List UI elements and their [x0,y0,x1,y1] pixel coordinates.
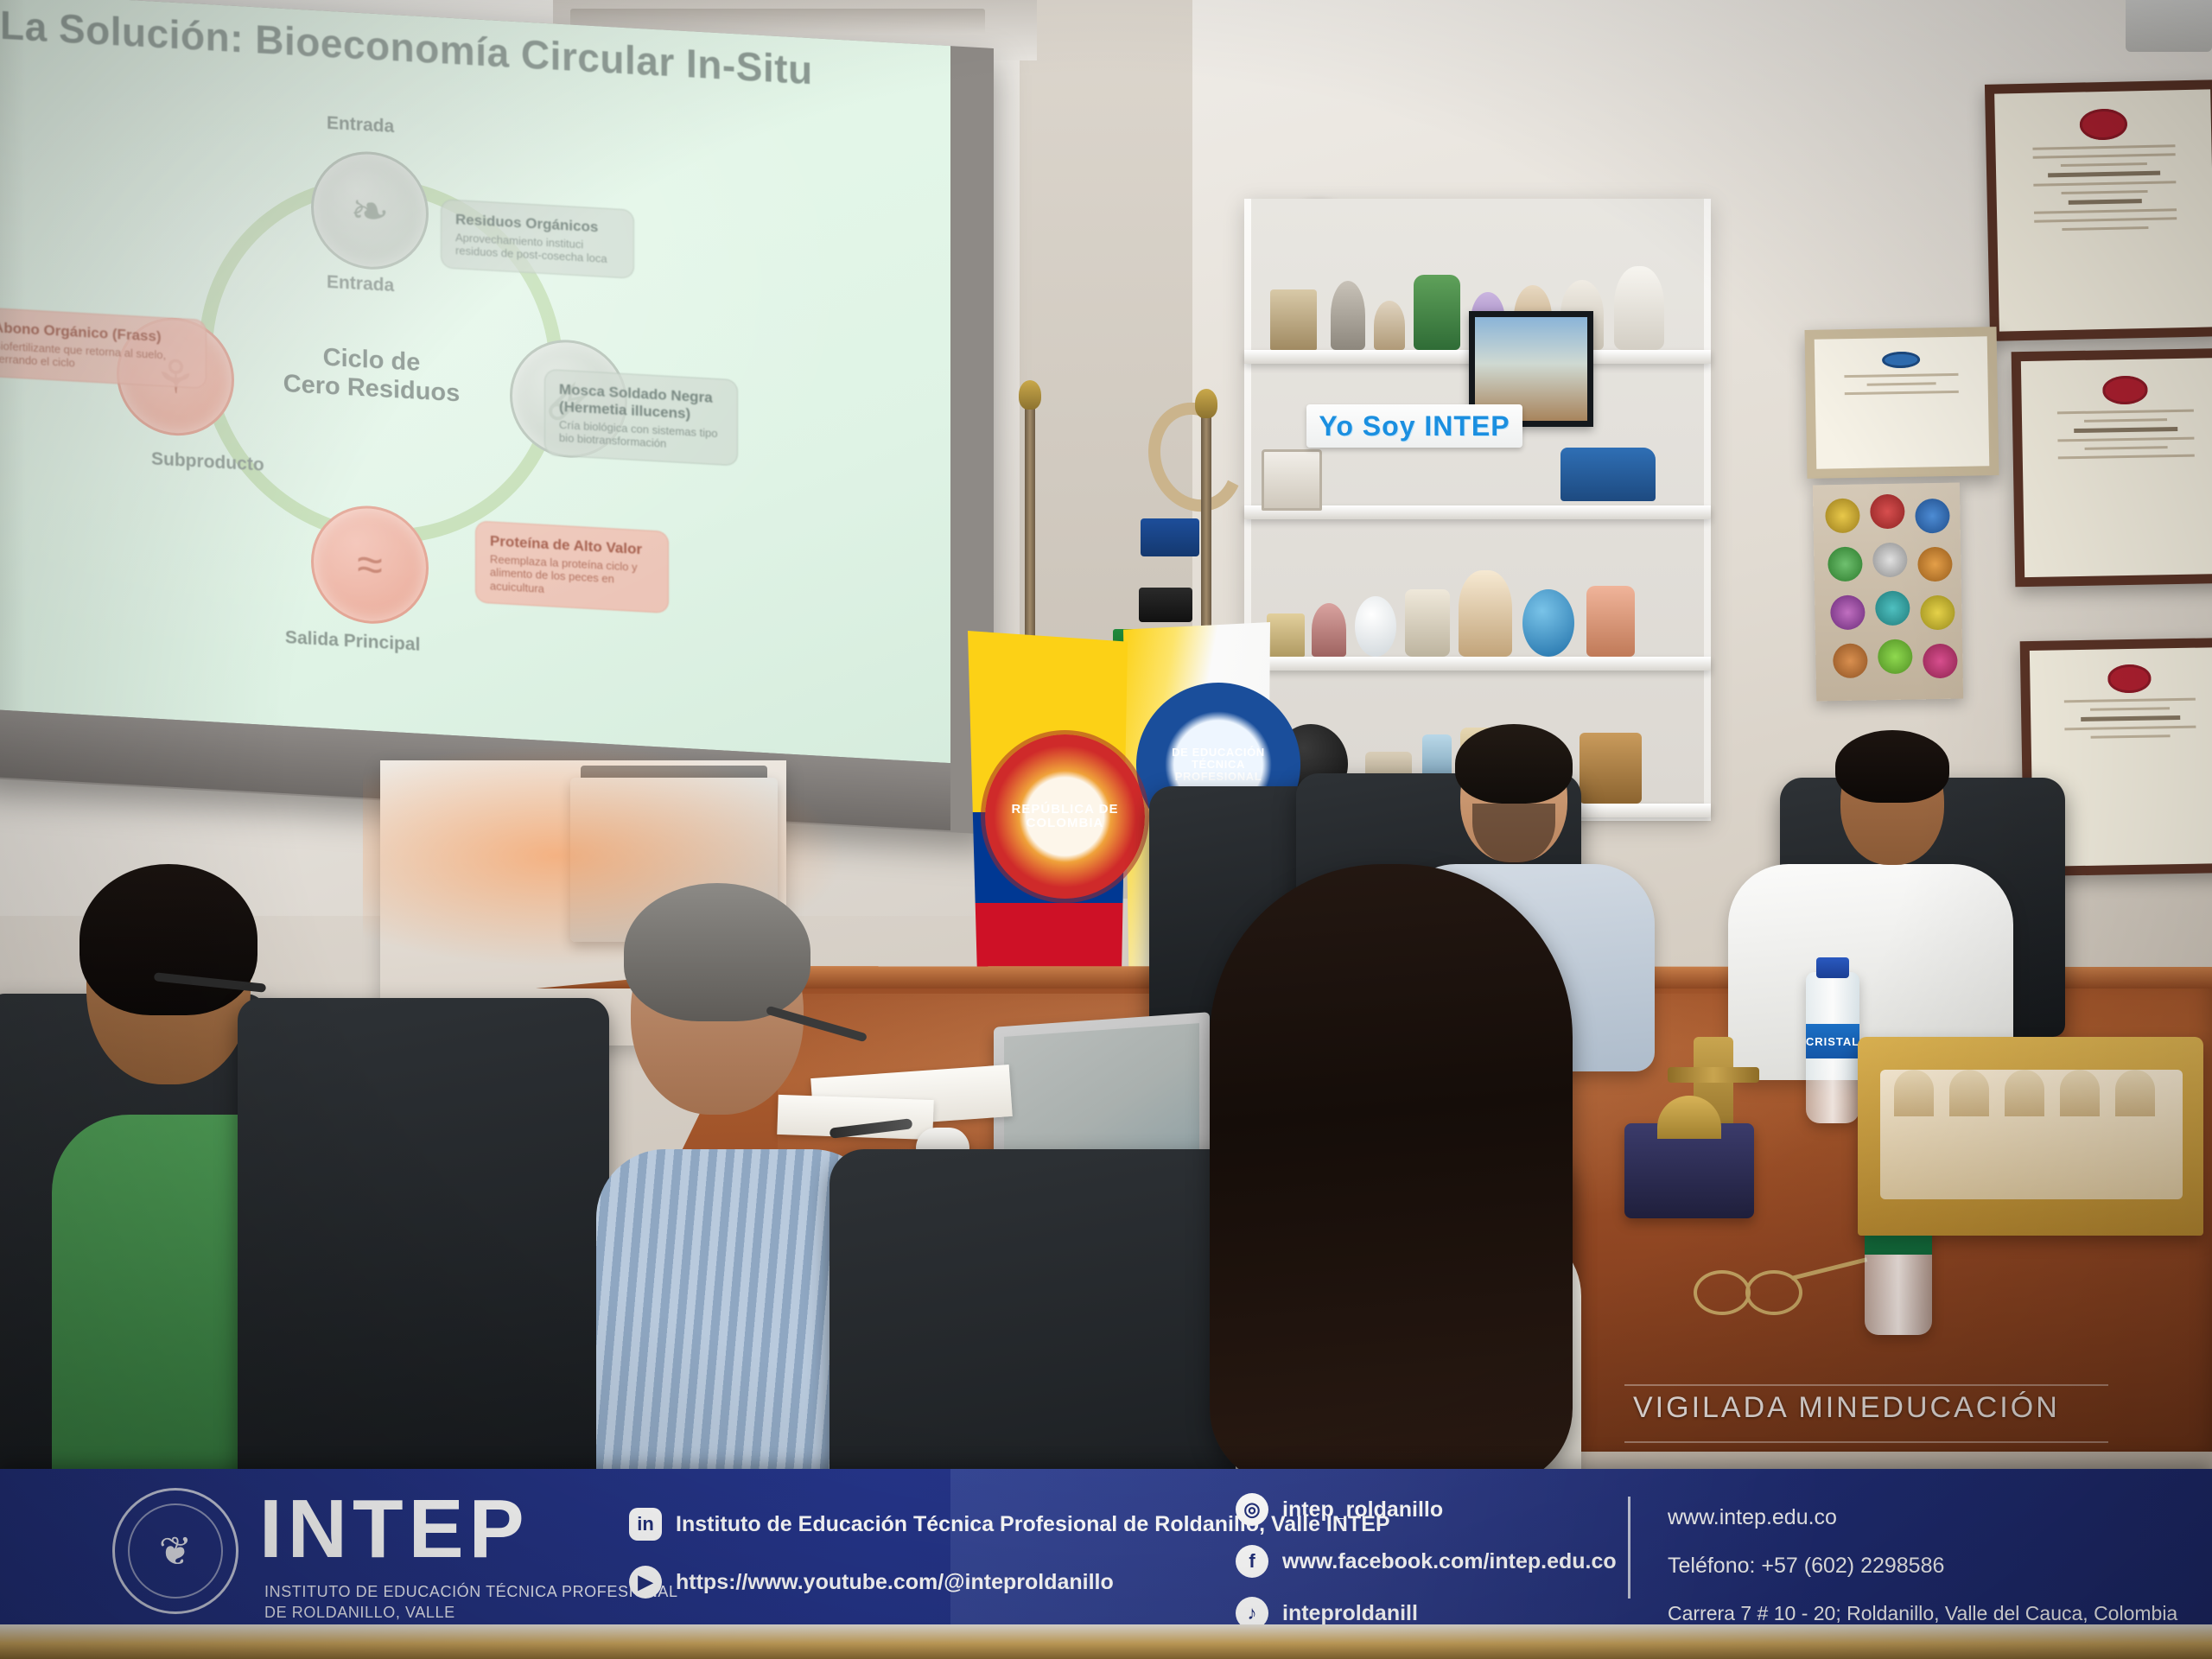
trinket-glass-ball [1355,596,1396,657]
trinket-green-pot [1414,275,1460,350]
chair-foreground-middle [238,998,609,1534]
diploma-seal-icon [2107,664,2152,693]
contact-website[interactable]: www.intep.edu.co [1668,1505,1837,1530]
banner-bottom-strip [0,1624,2212,1659]
trinket-virgin-statue [1459,570,1512,657]
shelf-board-3 [1244,657,1711,671]
flag-colombia-seal-text: REPÚBLICA DE COLOMBIA [985,803,1145,831]
trinket-penguin [1614,266,1664,350]
badge [1825,499,1860,534]
person-right-hair [1835,730,1949,803]
diploma-content [2021,358,2212,577]
linkedin-icon: in [629,1508,662,1541]
flag-intep-seal-text: DE EDUCACIÓN TÉCNICA PROFESIONAL [1154,747,1283,784]
badge [1875,591,1910,626]
diploma-seal-icon [2102,376,2148,404]
flag-colombia-seal: REPÚBLICA DE COLOMBIA [985,734,1145,899]
crest-laurel-icon: ❦ [128,1503,223,1599]
diploma-content [1994,89,2212,331]
social-instagram[interactable]: ◎ intep_roldanillo [1236,1493,1443,1526]
badge [1923,644,1958,679]
contact-address: Carrera 7 # 10 - 20; Roldanillo, Valle d… [1668,1602,2177,1625]
instagram-icon: ◎ [1236,1493,1268,1526]
trinket-plaque [1405,589,1450,657]
last-supper-panel [1880,1070,2183,1199]
badge [1920,595,1955,631]
water-bottle-cap-1[interactable] [1816,957,1849,978]
youtube-icon: ▶ [629,1566,662,1599]
relief-arch [1894,1070,1934,1116]
relief-arch [2060,1070,2100,1116]
badge-collection-board [1813,483,1963,702]
social-tiktok-text: inteproldanill [1282,1601,1418,1626]
slide-surface: La Solución: Bioeconomía Circular In-Sit… [0,0,950,763]
trinket-toy-bus [1560,448,1656,501]
relief-arch [1949,1070,1989,1116]
certificate-content [1815,336,1990,468]
intep-subtitle-line-1: INSTITUTO DE EDUCACIÓN TÉCNICA PROFESION… [264,1581,678,1602]
air-conditioner [2126,0,2212,52]
trinket-salt-lamp [1586,586,1635,657]
wall-plate-sign-2 [1139,588,1192,622]
badge [1872,543,1908,578]
eyeglasses-lens-left [1694,1270,1751,1315]
social-youtube[interactable]: ▶ https://www.youtube.com/@inteproldanil… [629,1566,1114,1599]
trinket-figurine [1331,281,1365,350]
badge [1917,547,1953,582]
relief-arch [2115,1070,2155,1116]
person-foreground-left-hair [79,864,257,1015]
intep-subtitle-line-2: DE ROLDANILLO, VALLE [264,1602,678,1623]
water-bottle-label-1: CRISTAL [1806,1024,1859,1058]
badge [1870,494,1905,530]
wall-plate-sign-1 [1141,518,1199,556]
watermark-rule-top [1624,1384,2108,1386]
person-foreground-middle-hair [624,883,810,1021]
watermark-rule-bottom [1624,1441,2108,1443]
trinket-frame-sand [1262,449,1322,511]
flagpole-finial-colombia [1019,380,1041,410]
intep-crest-logo: ❦ [112,1488,238,1614]
projection-screen: La Solución: Bioeconomía Circular In-Sit… [0,0,994,835]
banner-divider [1628,1497,1630,1599]
trinket-wooden-frame [1580,733,1642,804]
badge [1827,547,1863,582]
certificate-seal-icon [1882,352,1920,369]
person-foreground-woman-hair [1210,864,1573,1486]
trinket-globe [1522,589,1574,657]
yo-soy-intep-sign: Yo Soy INTEP [1306,404,1522,448]
social-instagram-text: intep_roldanillo [1282,1497,1443,1522]
vigilada-mineducacion-watermark: VIGILADA MINEDUCACIÓN [1633,1391,2060,1425]
certificate-frame [1805,327,1999,479]
trinket-statue [1374,301,1405,350]
trinket-small-box [1267,613,1305,657]
social-youtube-text: https://www.youtube.com/@inteproldanillo [676,1570,1114,1595]
facebook-icon: f [1236,1545,1268,1578]
diploma-seal-icon [2079,108,2127,140]
social-facebook[interactable]: f www.facebook.com/intep.edu.co [1236,1545,1617,1578]
intep-wordmark-subtitle: INSTITUTO DE EDUCACIÓN TÉCNICA PROFESION… [264,1581,678,1624]
badge [1830,594,1866,630]
person-center-hair [1455,724,1573,804]
diploma-frame-1 [1985,79,2212,341]
trinket-figure-pink [1312,603,1346,657]
contact-phone: Teléfono: +57 (602) 2298586 [1668,1554,1944,1579]
badge [1833,643,1868,678]
relief-arch [2005,1070,2044,1116]
social-facebook-text: www.facebook.com/intep.edu.co [1282,1549,1617,1574]
badge [1878,639,1913,675]
yo-soy-intep-text: Yo Soy INTEP [1319,410,1510,442]
flagpole-finial-intep [1195,389,1217,418]
trinket-vase [1270,289,1317,350]
diploma-frame-2 [2012,348,2212,588]
crucifix-crossbar [1668,1067,1759,1083]
badge [1915,499,1950,534]
screen-glare [0,0,950,763]
intep-wordmark: INTEP [259,1488,530,1571]
screenshot-root: La Solución: Bioeconomía Circular In-Sit… [0,0,2212,1659]
shelving-unit [1244,199,1711,821]
